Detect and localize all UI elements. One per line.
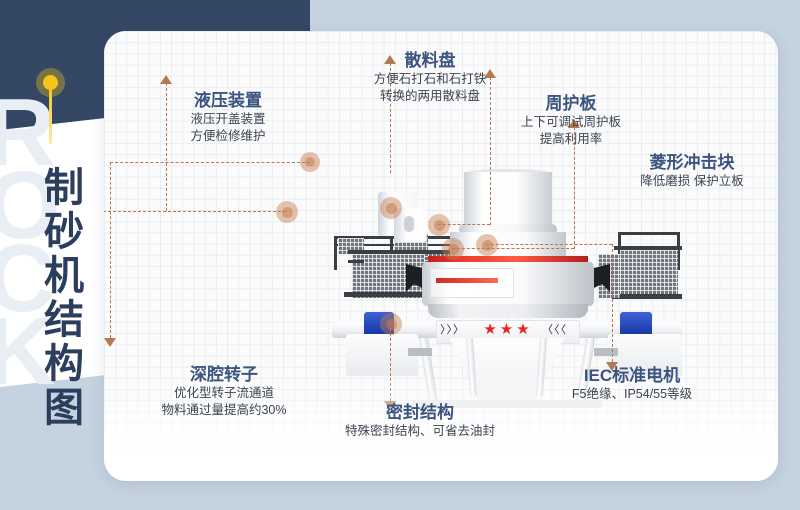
feed-hopper (464, 172, 552, 230)
platform-post (334, 236, 337, 270)
title-char: 制 (34, 166, 94, 210)
pin-stem (49, 82, 52, 144)
title-char: 构 (34, 342, 94, 386)
callout-diamond-impact-block: 菱形冲击块 降低磨损 保护立板 (608, 152, 776, 190)
platform-rail (348, 260, 364, 263)
page-title: 制 砂 机 结 构 图 (34, 166, 94, 430)
title-char: 砂 (34, 210, 94, 254)
callout-hydraulic-device: 液压装置 液压开盖装置 方便检修维护 (148, 90, 308, 145)
callout-title: 液压装置 (148, 90, 308, 111)
connector-rotor-h (110, 162, 310, 163)
anchor-dot-guard (428, 214, 450, 236)
callout-title: 周护板 (492, 93, 650, 114)
callout-line: 物料通过量提高约30% (116, 402, 332, 419)
anchor-dot-distributor (380, 197, 402, 219)
callout-title: IEC标准电机 (524, 365, 740, 386)
mesh-guard (620, 250, 678, 298)
title-char: 结 (34, 298, 94, 342)
anchor-dot-hydraulic (276, 201, 298, 223)
connector-motor-v (612, 244, 613, 362)
motor-shaft (594, 348, 618, 356)
arrow-hydraulic (160, 75, 172, 84)
callout-title: 菱形冲击块 (608, 152, 776, 173)
callout-line: 特殊密封结构、可省去油封 (312, 423, 528, 440)
motor-shaft (408, 348, 432, 356)
callout-deep-cavity-rotor: 深腔转子 优化型转子流通道 物料通过量提高约30% (116, 364, 332, 419)
callout-line: 降低磨损 保护立板 (608, 173, 776, 190)
anchor-dot-impact (442, 238, 464, 260)
platform-rail (614, 246, 682, 250)
connector-motor-h (486, 244, 612, 245)
hydraulic-slot (404, 216, 414, 232)
anchor-dot-motor (476, 234, 498, 256)
connector-impact-h (452, 248, 574, 249)
arrow-rotor (104, 338, 116, 347)
connector-hydraulic-h (104, 211, 286, 212)
red-stars: ★★★ (472, 322, 544, 338)
callout-iec-standard-motor: IEC标准电机 F5绝缘、IP54/55等级 (524, 365, 740, 403)
inspection-panel (430, 268, 514, 298)
callout-title: 密封结构 (312, 402, 528, 423)
upper-housing (450, 232, 566, 258)
callout-peripheral-guard-plate: 周护板 上下可调试周护板 提高利用率 (492, 93, 650, 148)
callout-title: 散料盘 (330, 50, 530, 71)
callout-sealing-structure: 密封结构 特殊密封结构、可省去油封 (312, 402, 528, 440)
callout-line: 优化型转子流通道 (116, 385, 332, 402)
callout-line: 上下可调试周护板 (492, 114, 650, 131)
callout-line: F5绝缘、IP54/55等级 (524, 386, 740, 403)
title-char: 机 (34, 254, 94, 298)
callout-line: 方便石打石和石打铁 (330, 71, 530, 88)
chevron-left-group: 〉〉〉 (440, 323, 465, 337)
platform-rail (612, 294, 682, 299)
title-char: 图 (34, 386, 94, 430)
callout-line: 液压开盖装置 (148, 111, 308, 128)
chevron-right-group: 〈〈〈 (542, 323, 567, 337)
platform-rail (618, 232, 680, 235)
anchor-dot-sealing (380, 313, 402, 335)
red-accent-bar (436, 278, 498, 283)
chamber-base-flange (428, 304, 588, 318)
screenshot-root: R O C K 制 砂 机 结 构 图 (0, 0, 800, 510)
callout-title: 深腔转子 (116, 364, 332, 385)
callout-line: 方便检修维护 (148, 128, 308, 145)
connector-rotor-v (110, 162, 111, 338)
callout-line: 提高利用率 (492, 131, 650, 148)
anchor-dot-rotor (300, 152, 320, 172)
